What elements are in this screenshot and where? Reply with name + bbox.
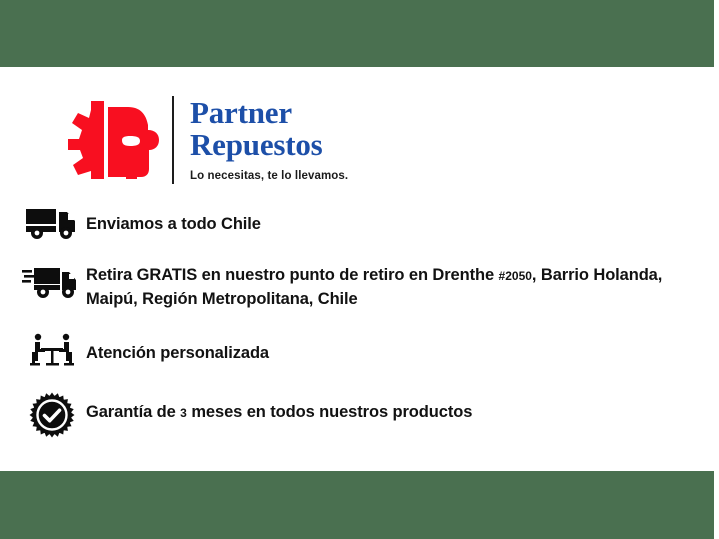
feature-text-warranty: Garantía de 3 meses en todos nuestros pr… [86,391,472,425]
moving-truck-icon [18,262,86,300]
bottom-green-band [0,471,714,539]
brand-tagline: Lo necesitas, te lo llevamos. [190,169,348,183]
feature-list: Enviamos a todo Chile Ret [18,206,698,460]
feature-row-attention: Atención personalizada [18,333,698,369]
feature-text-pickup: Retira GRATIS en nuestro punto de retiro… [86,262,698,311]
brand-divider [172,96,174,184]
feature-row-pickup: Retira GRATIS en nuestro punto de retiro… [18,262,698,311]
brand-name-line-1: Partner [190,97,348,129]
brand-text: Partner Repuestos Lo necesitas, te lo ll… [190,97,348,183]
brand-logo-block: Partner Repuestos Lo necesitas, te lo ll… [60,92,348,188]
guarantee-badge-check-icon [18,391,86,438]
feature-text-shipping: Enviamos a todo Chile [86,206,261,236]
brand-name-line-2: Repuestos [190,129,348,161]
feature-text-attention: Atención personalizada [86,333,269,365]
feature-row-shipping: Enviamos a todo Chile [18,206,698,240]
promo-banner: Partner Repuestos Lo necesitas, te lo ll… [0,0,719,539]
top-green-band [0,0,714,67]
people-at-table-icon [18,333,86,369]
feature-row-warranty: Garantía de 3 meses en todos nuestros pr… [18,391,698,438]
delivery-truck-icon [18,206,86,240]
gear-car-icon [60,97,164,183]
